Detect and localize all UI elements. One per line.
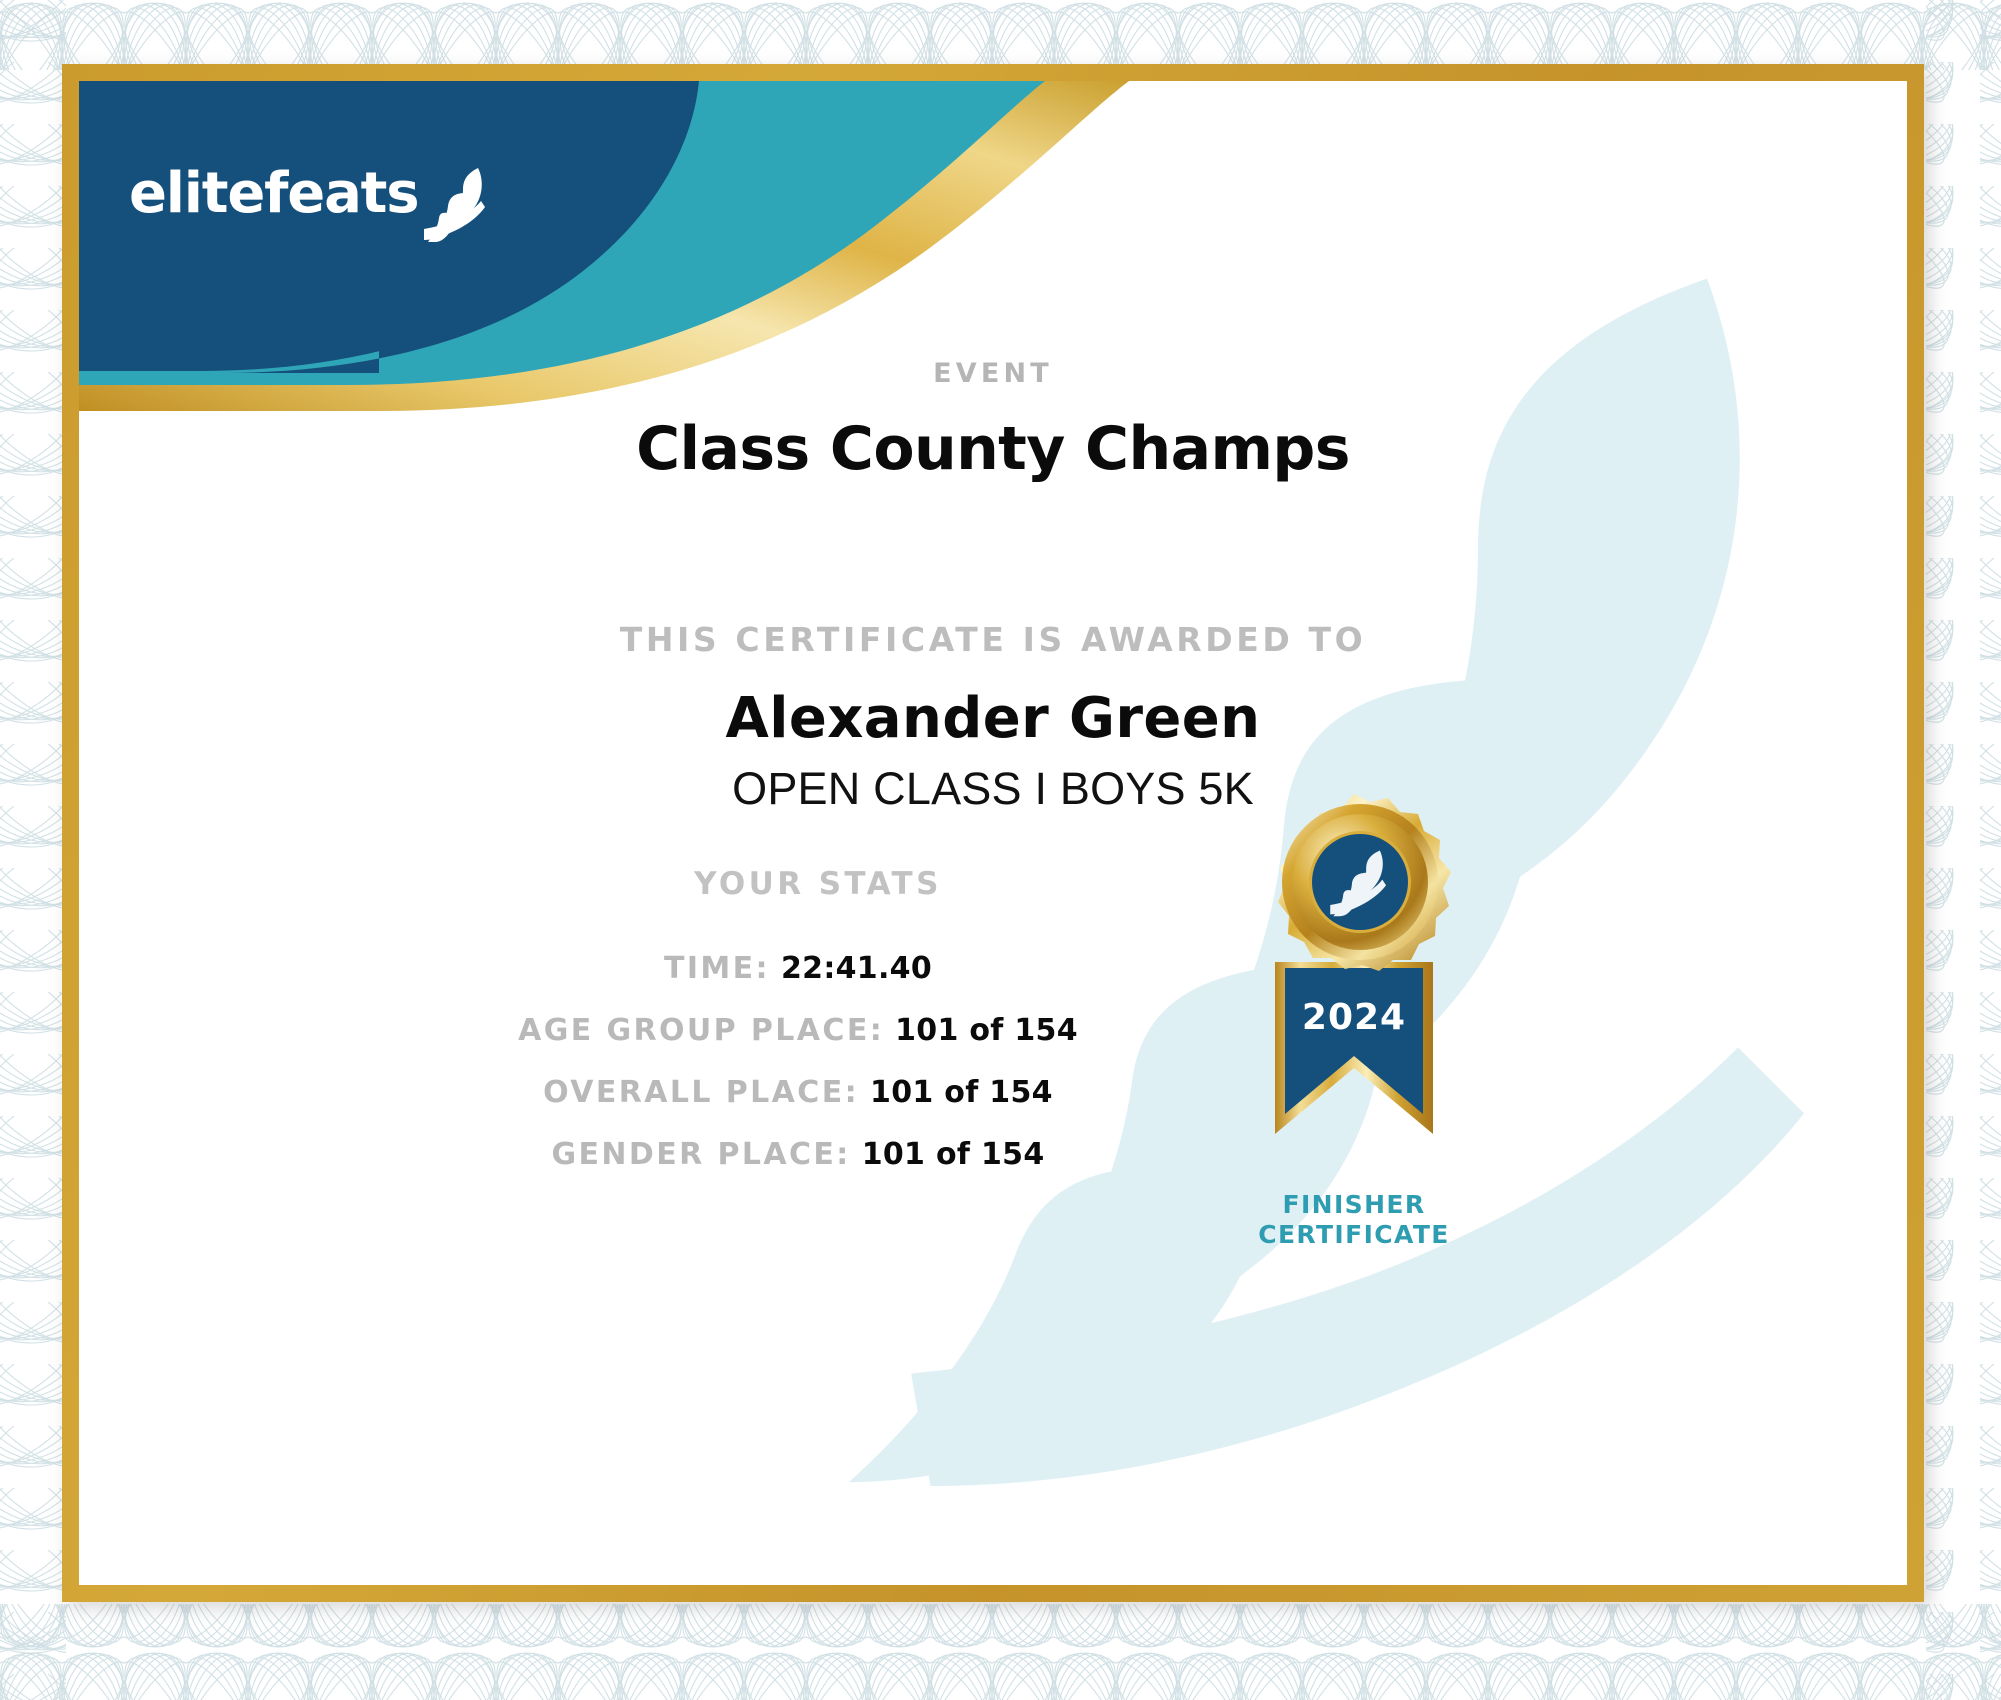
event-label: EVENT	[79, 358, 1907, 389]
certificate-card: elitefeats EVENT Class County Champs THI…	[62, 64, 1924, 1602]
stat-value: 101 of 154	[895, 1013, 1078, 1048]
badge-caption-line1: FINISHER	[1219, 1190, 1489, 1220]
stat-value: 101 of 154	[862, 1137, 1045, 1172]
badge-caption-line2: CERTIFICATE	[1219, 1220, 1489, 1250]
certificate-page: elitefeats EVENT Class County Champs THI…	[0, 0, 2001, 1700]
badge-caption: FINISHER CERTIFICATE	[1219, 1190, 1489, 1249]
division-name: OPEN CLASS I BOYS 5K	[79, 763, 1907, 815]
stat-label: OVERALL PLACE:	[543, 1075, 859, 1110]
stat-value: 22:41.40	[781, 951, 932, 986]
certificate-body: elitefeats EVENT Class County Champs THI…	[79, 81, 1907, 1585]
medal-disc	[1278, 794, 1451, 971]
recipient-name: Alexander Green	[79, 686, 1907, 751]
ribbon-tails	[1275, 962, 1433, 1134]
stat-value: 101 of 154	[870, 1075, 1053, 1110]
certificate-content: EVENT Class County Champs THIS CERTIFICA…	[79, 81, 1907, 1585]
finisher-badge: 2024 FINISHER CERTIFICATE	[1219, 786, 1489, 1249]
winged-foot-icon	[422, 166, 492, 242]
stat-label: GENDER PLACE:	[552, 1137, 851, 1172]
stat-label: AGE GROUP PLACE:	[518, 1013, 884, 1048]
awarded-to-label: THIS CERTIFICATE IS AWARDED TO	[79, 620, 1907, 659]
event-name: Class County Champs	[79, 414, 1907, 484]
logo-wordmark: elitefeats	[129, 166, 418, 222]
stats-list: TIME: 22:41.40 AGE GROUP PLACE: 101 of 1…	[79, 951, 1907, 1199]
elitefeats-logo: elitefeats	[129, 166, 492, 242]
badge-year: 2024	[1302, 997, 1406, 1038]
stat-label: TIME:	[664, 951, 770, 986]
stats-label: YOUR STATS	[79, 866, 1907, 902]
medal-ribbon-graphic: 2024	[1219, 786, 1489, 1186]
